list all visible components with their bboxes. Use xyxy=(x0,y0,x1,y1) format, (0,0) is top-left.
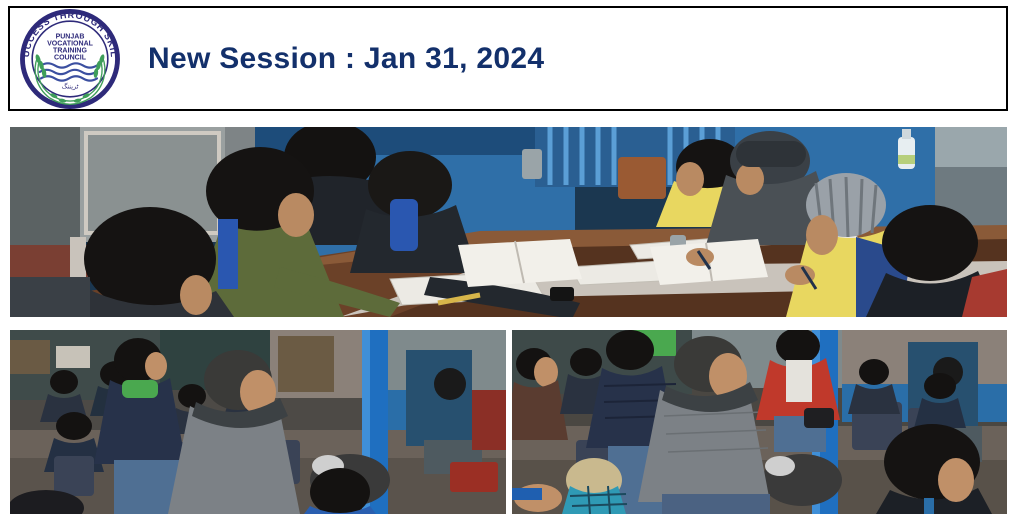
svg-text:COUNCIL: COUNCIL xyxy=(54,54,87,61)
workshop-left-photo-illustration xyxy=(10,330,506,514)
svg-text:PUNJAB: PUNJAB xyxy=(56,33,85,40)
page-title: New Session : Jan 31, 2024 xyxy=(148,42,544,76)
logo-container: SUCCESS THROUGH SKILL PUNJAB VOCATIONAL … xyxy=(16,9,124,109)
svg-text:VOCATIONAL: VOCATIONAL xyxy=(47,40,94,47)
svg-text:ٹریننگ: ٹریننگ xyxy=(62,82,79,90)
photo-workshop-students-standing-left xyxy=(10,330,506,514)
classroom-photo-illustration xyxy=(10,127,1007,317)
photo-workshop-students-standing-right xyxy=(512,330,1007,514)
header-banner: SUCCESS THROUGH SKILL PUNJAB VOCATIONAL … xyxy=(8,6,1008,111)
svg-text:TRAINING: TRAINING xyxy=(53,47,87,54)
punjab-vocational-training-council-logo: SUCCESS THROUGH SKILL PUNJAB VOCATIONAL … xyxy=(16,5,124,113)
photo-classroom-students-writing-exam xyxy=(10,127,1007,317)
workshop-right-photo-illustration xyxy=(512,330,1007,514)
